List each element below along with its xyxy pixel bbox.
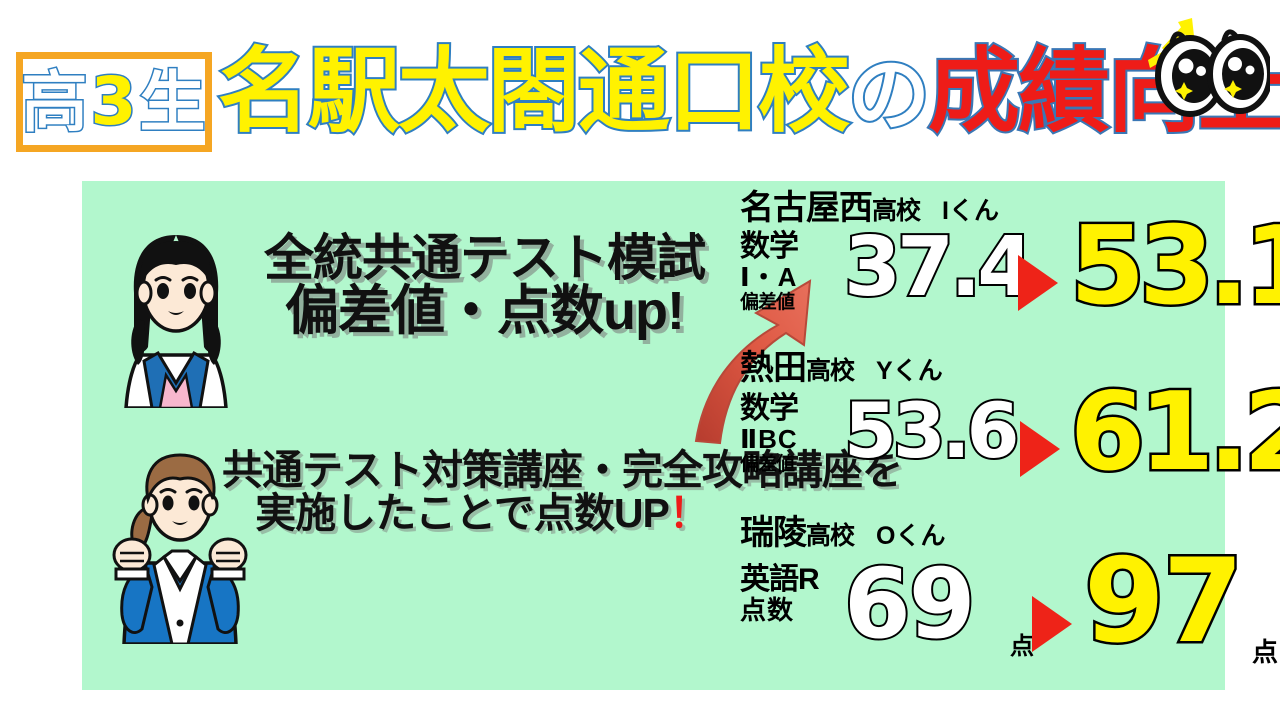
subject-line-1: 英語R <box>740 564 852 596</box>
school-line: 瑞陵高校Oくん <box>740 516 945 550</box>
grade-prefix: 高 <box>22 69 89 135</box>
subject-block: 数学 ⅡBC 偏差値 <box>740 393 852 476</box>
title-school: 名駅太閤通口校 <box>218 41 848 143</box>
score-before-unit: 点 <box>1010 626 1034 661</box>
poster-header: 高 3 生 名駅太閤通口校の成績向上実例 <box>0 0 1280 180</box>
lead-copy-top-line2: 偏差値・点数up! <box>257 284 712 339</box>
school-suffix: 高校 <box>806 522 854 550</box>
subject-block: 英語R 点数 <box>740 564 852 626</box>
arrow-right-triangle-icon <box>1018 255 1058 311</box>
arrow-right-triangle-icon <box>1020 421 1060 477</box>
result-row: 名古屋西高校Iくん 数学 Ⅰ・A 偏差値 37.4 53.1 <box>732 191 1232 356</box>
result-row: 瑞陵高校Oくん 英語R 点数 69 点 97 点 <box>732 516 1232 681</box>
subject-line-2: 点数 <box>740 596 852 624</box>
lead-copy-top: 全統共通テスト模試 偏差値・点数up! <box>257 233 712 339</box>
sparkling-eyes-icon <box>1100 14 1270 124</box>
score-after-unit: 点 <box>1252 632 1278 669</box>
score-before: 53.6 <box>844 393 1016 469</box>
grade-suffix: 生 <box>139 69 206 135</box>
score-after: 61.2 <box>1070 379 1280 487</box>
result-row: 熱田高校Yくん 数学 ⅡBC 偏差値 53.6 61.2 <box>732 351 1232 516</box>
lead-copy-bottom-line2: 実施したことで点数UP！ <box>222 492 742 535</box>
results-panel: 全統共通テスト模試 偏差値・点数up! 共通テスト対策講座・完全攻略講座を 実施… <box>82 181 1225 690</box>
subject-line-3: 偏差値 <box>740 293 852 314</box>
arrow-right-triangle-icon <box>1032 596 1072 652</box>
subject-line-2: Ⅰ・A <box>740 263 852 291</box>
exclamation-mark: ！ <box>669 490 709 536</box>
school-suffix: 高校 <box>806 357 854 385</box>
subject-block: 数学 Ⅰ・A 偏差値 <box>740 231 852 314</box>
poster-stage: 高 3 生 名駅太閤通口校の成績向上実例 <box>0 0 1280 720</box>
school-line: 熱田高校Yくん <box>740 351 943 385</box>
subject-line-1: 数学 <box>740 231 852 263</box>
score-results-list: 名古屋西高校Iくん 数学 Ⅰ・A 偏差値 37.4 53.1 熱田高校Yくん <box>732 191 1232 686</box>
score-after: 97 <box>1084 544 1241 660</box>
lead-copy-bottom: 共通テスト対策講座・完全攻略講座を 実施したことで点数UP！ <box>222 449 742 534</box>
lead-copy-bottom-line1: 共通テスト対策講座・完全攻略講座を <box>222 449 742 492</box>
lead-copy-top-line1: 全統共通テスト模試 <box>257 233 712 284</box>
subject-line-1: 数学 <box>740 393 852 425</box>
subject-line-2: ⅡBC <box>740 425 852 453</box>
score-before: 69 <box>844 556 974 652</box>
school-name: 瑞陵 <box>740 514 806 552</box>
school-name: 熱田 <box>740 349 806 387</box>
grade-badge-inner: 高 3 生 <box>23 59 205 145</box>
title-particle: の <box>848 50 928 141</box>
pupil-name: Yくん <box>876 357 943 385</box>
pupil-name: Oくん <box>876 522 945 550</box>
score-after: 53.1 <box>1070 213 1280 321</box>
score-before: 37.4 <box>844 227 1030 309</box>
subject-line-3: 偏差値 <box>740 455 852 476</box>
lead-copy-bottom-line2-text: 実施したことで点数UP <box>255 490 669 536</box>
grade-badge: 高 3 生 <box>16 52 212 152</box>
grade-number: 3 <box>91 69 138 135</box>
student-girl-illustration <box>104 223 249 408</box>
